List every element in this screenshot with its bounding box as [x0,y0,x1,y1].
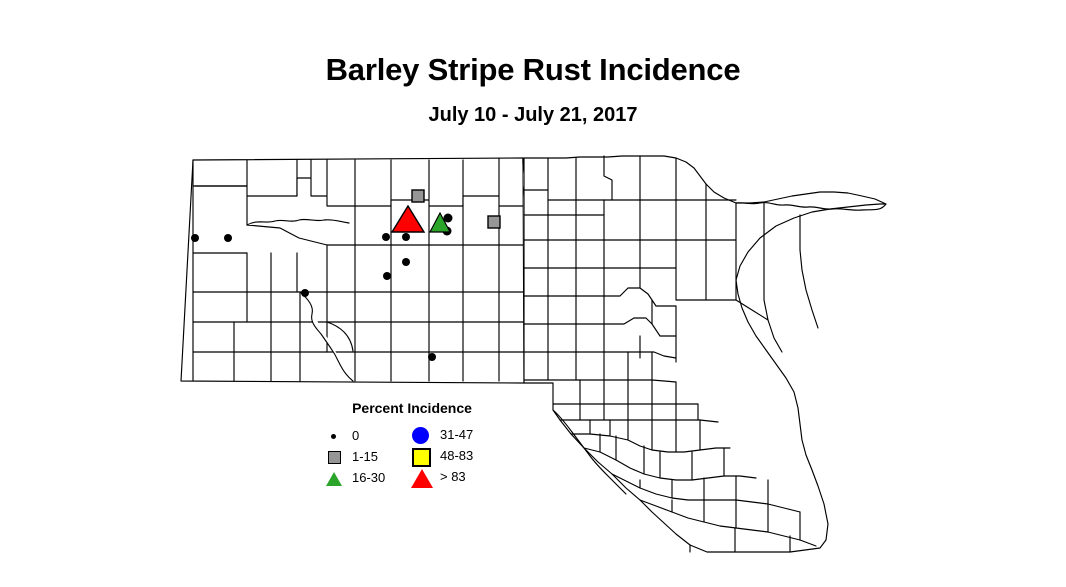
legend-title: Percent Incidence [322,400,502,416]
map-marker-dot[interactable] [224,234,232,242]
marker-class-1-15 [412,190,500,228]
map-canvas [0,0,1066,587]
marker-class-0 [191,214,453,362]
map-marker-gray-square[interactable] [412,190,424,202]
map-marker-red-triangle[interactable] [392,206,424,232]
legend-item-label: 16-30 [352,470,385,485]
map-marker-dot[interactable] [301,289,309,297]
legend: Percent Incidence 0 1-15 16-30 [322,400,502,492]
map-marker-dot[interactable] [402,233,410,241]
legend-item-label: 31-47 [440,427,473,442]
blue-circle-icon [410,426,436,447]
yellow-square-icon [410,447,436,468]
gray-square-icon [324,447,350,468]
green-triangle-icon [324,468,350,489]
map-marker-dot[interactable] [428,353,436,361]
map-marker-gray-square[interactable] [488,216,500,228]
map-marker-dot[interactable] [383,272,391,280]
red-triangle-icon [410,468,436,489]
small-black-dot-icon [324,426,350,447]
legend-item-label: 48-83 [440,448,473,463]
map-marker-dot[interactable] [191,234,199,242]
marker-class-over-83 [392,206,424,232]
legend-item-label: 0 [352,428,359,443]
map-marker-dot[interactable] [402,258,410,266]
legend-item-label: 1-15 [352,449,378,464]
map-page: Barley Stripe Rust Incidence July 10 - J… [0,0,1066,587]
map-marker-dot[interactable] [382,233,390,241]
legend-item-label: > 83 [440,469,466,484]
incidence-marker-layer [0,0,1066,587]
